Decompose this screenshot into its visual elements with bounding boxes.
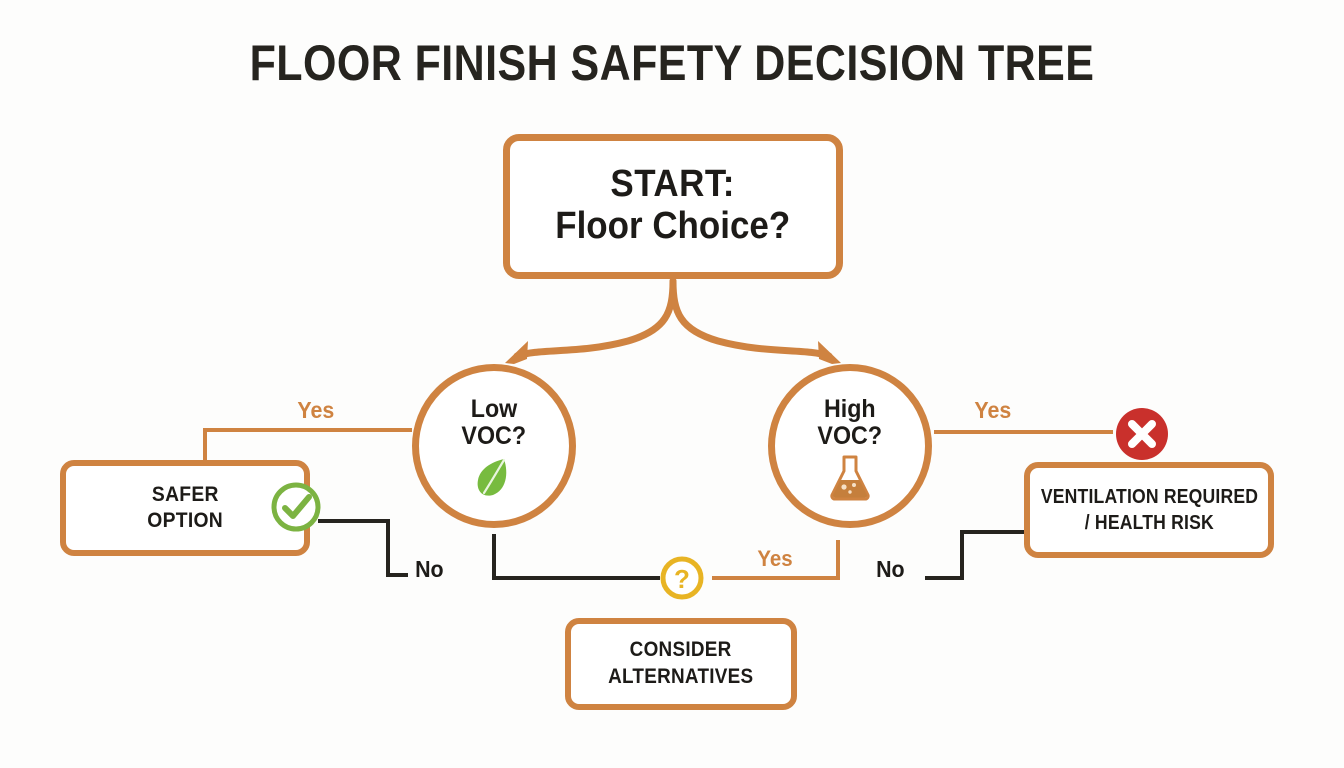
start-label-line2: Floor Choice? [555, 205, 790, 248]
edge-safer-option-no [318, 521, 408, 575]
check-circle-icon [269, 480, 323, 534]
node-high-voc[interactable]: High VOC? [768, 364, 932, 528]
edge-label-no-right: No [876, 556, 905, 583]
leaf-icon [471, 454, 517, 500]
alternatives-label-line2: ALTERNATIVES [608, 664, 753, 691]
edge-low-voc-no [494, 534, 660, 578]
edge-label-yes-left: Yes [297, 397, 334, 424]
edge-start-to-high-voc [673, 281, 829, 356]
arrowhead-low-voc [505, 341, 528, 364]
node-start[interactable]: START: Floor Choice? [503, 134, 843, 279]
svg-text:?: ? [674, 564, 690, 594]
low-voc-label-line1: Low [471, 396, 518, 423]
edge-low-voc-yes [205, 430, 412, 462]
alternatives-label-line1: CONSIDER [630, 637, 732, 664]
arrowhead-high-voc [818, 341, 841, 364]
node-low-voc[interactable]: Low VOC? [412, 364, 576, 528]
low-voc-label-line2: VOC? [462, 423, 527, 450]
node-consider-alternatives[interactable]: CONSIDER ALTERNATIVES [565, 618, 797, 710]
cross-circle-icon [1113, 405, 1171, 463]
ventilation-label-line2: / HEALTH RISK [1084, 510, 1213, 536]
safer-option-label-line1: SAFER [152, 482, 219, 508]
high-voc-label-line2: VOC? [818, 423, 883, 450]
start-label-line1: START: [611, 165, 735, 205]
edge-label-no-left: No [415, 556, 444, 583]
question-circle-icon: ? [658, 554, 706, 602]
flask-icon [827, 454, 873, 502]
edge-high-voc-no [925, 532, 1024, 578]
safer-option-label-line2: OPTION [147, 508, 223, 534]
edge-label-yes-right: Yes [974, 397, 1011, 424]
node-ventilation-required[interactable]: VENTILATION REQUIRED / HEALTH RISK [1024, 462, 1274, 558]
decision-tree-diagram: FLOOR FINISH SAFETY DECISION TREE SAFER … [0, 0, 1344, 768]
edge-label-yes-middle: Yes [757, 546, 792, 572]
ventilation-label-line1: VENTILATION REQUIRED [1040, 484, 1257, 510]
high-voc-label-line1: High [824, 396, 876, 423]
edge-start-to-low-voc [517, 281, 673, 356]
